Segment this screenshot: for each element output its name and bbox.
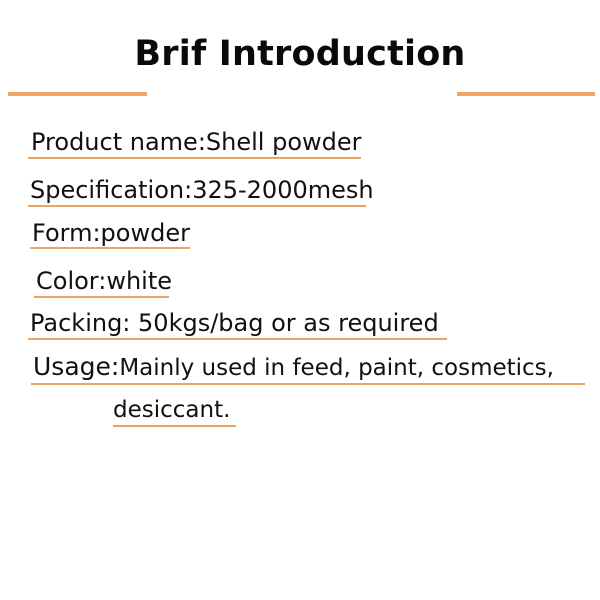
- spec-label-product-name: Product name:: [31, 128, 206, 156]
- spec-underline-product-name: [28, 157, 361, 159]
- spec-value-packing: 50kgs/bag or as required: [130, 309, 438, 337]
- spec-underline-usage: [31, 383, 585, 385]
- spec-label-packing: Packing:: [30, 309, 130, 337]
- spec-value-usage-continued: desiccant.: [113, 396, 230, 424]
- spec-row-color: Color:white: [36, 267, 172, 295]
- spec-row-product-name: Product name:Shell powder: [31, 128, 362, 156]
- spec-row-form: Form:powder: [32, 219, 190, 247]
- page-title: Brif Introduction: [0, 32, 600, 76]
- spec-value-specification: 325-2000mesh: [192, 176, 373, 204]
- spec-label-specification: Specification:: [30, 176, 192, 204]
- spec-underline-specification: [28, 205, 366, 207]
- spec-underline-form: [30, 247, 190, 249]
- spec-value-product-name: Shell powder: [206, 128, 362, 156]
- spec-row-usage: Usage:Mainly used in feed, paint, cosmet…: [33, 353, 554, 382]
- spec-row-specification: Specification:325-2000mesh: [30, 176, 374, 204]
- spec-underline-usage-continued: [113, 425, 236, 427]
- spec-value-color: white: [106, 267, 172, 295]
- spec-value-form: powder: [101, 219, 190, 247]
- spec-label-color: Color:: [36, 267, 106, 295]
- spec-row-packing: Packing: 50kgs/bag or as required: [30, 309, 439, 337]
- title-rule-right-icon: [457, 92, 595, 96]
- spec-value-usage: Mainly used in feed, paint, cosmetics,: [119, 355, 554, 381]
- spec-underline-color: [34, 296, 169, 298]
- page-title-block: Brif Introduction: [0, 32, 600, 88]
- spec-label-usage: Usage:: [33, 352, 119, 381]
- brief-introduction-page: Brif Introduction Product name:Shell pow…: [0, 0, 600, 600]
- spec-label-form: Form:: [32, 219, 101, 247]
- title-rule-left-icon: [8, 92, 147, 96]
- spec-underline-packing: [28, 338, 447, 340]
